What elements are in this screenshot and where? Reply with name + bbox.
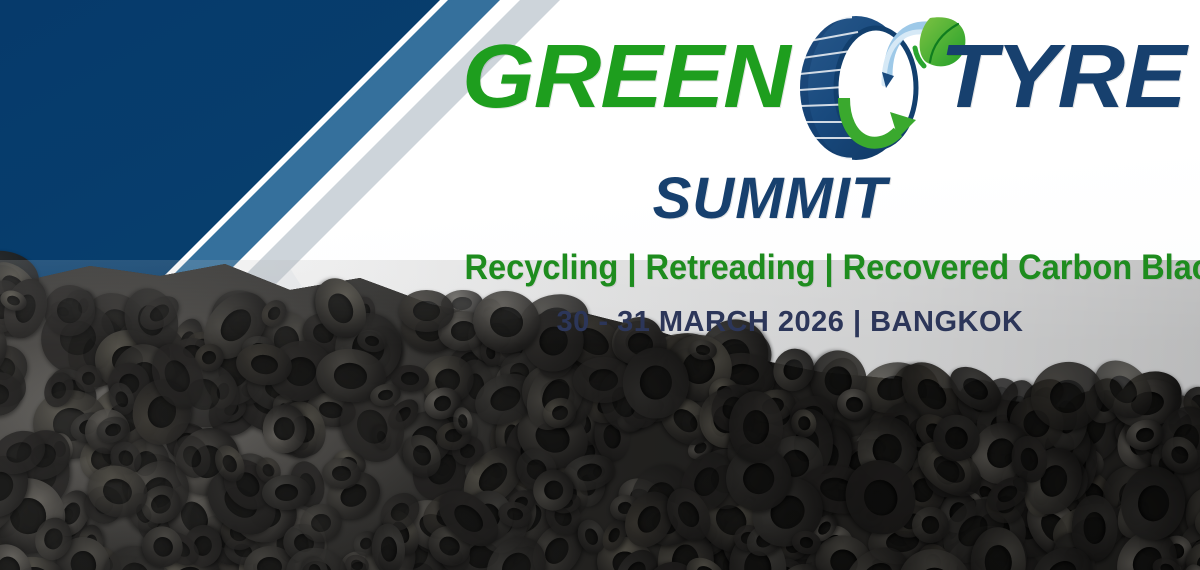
event-dateline: 30 - 31 MARCH 2026 | BANGKOK <box>440 308 1140 337</box>
logo-block: GREEN <box>440 24 1160 146</box>
logo-word-green: GREEN <box>462 32 790 122</box>
logo-word-navy: TYRE <box>940 32 1185 122</box>
event-banner: GREEN <box>0 0 1200 570</box>
logo-subtitle: SUMMIT <box>440 170 1100 228</box>
event-tagline: Recycling | Retreading | Recovered Carbo… <box>465 250 1116 285</box>
wordmark: GREEN <box>440 24 1160 146</box>
